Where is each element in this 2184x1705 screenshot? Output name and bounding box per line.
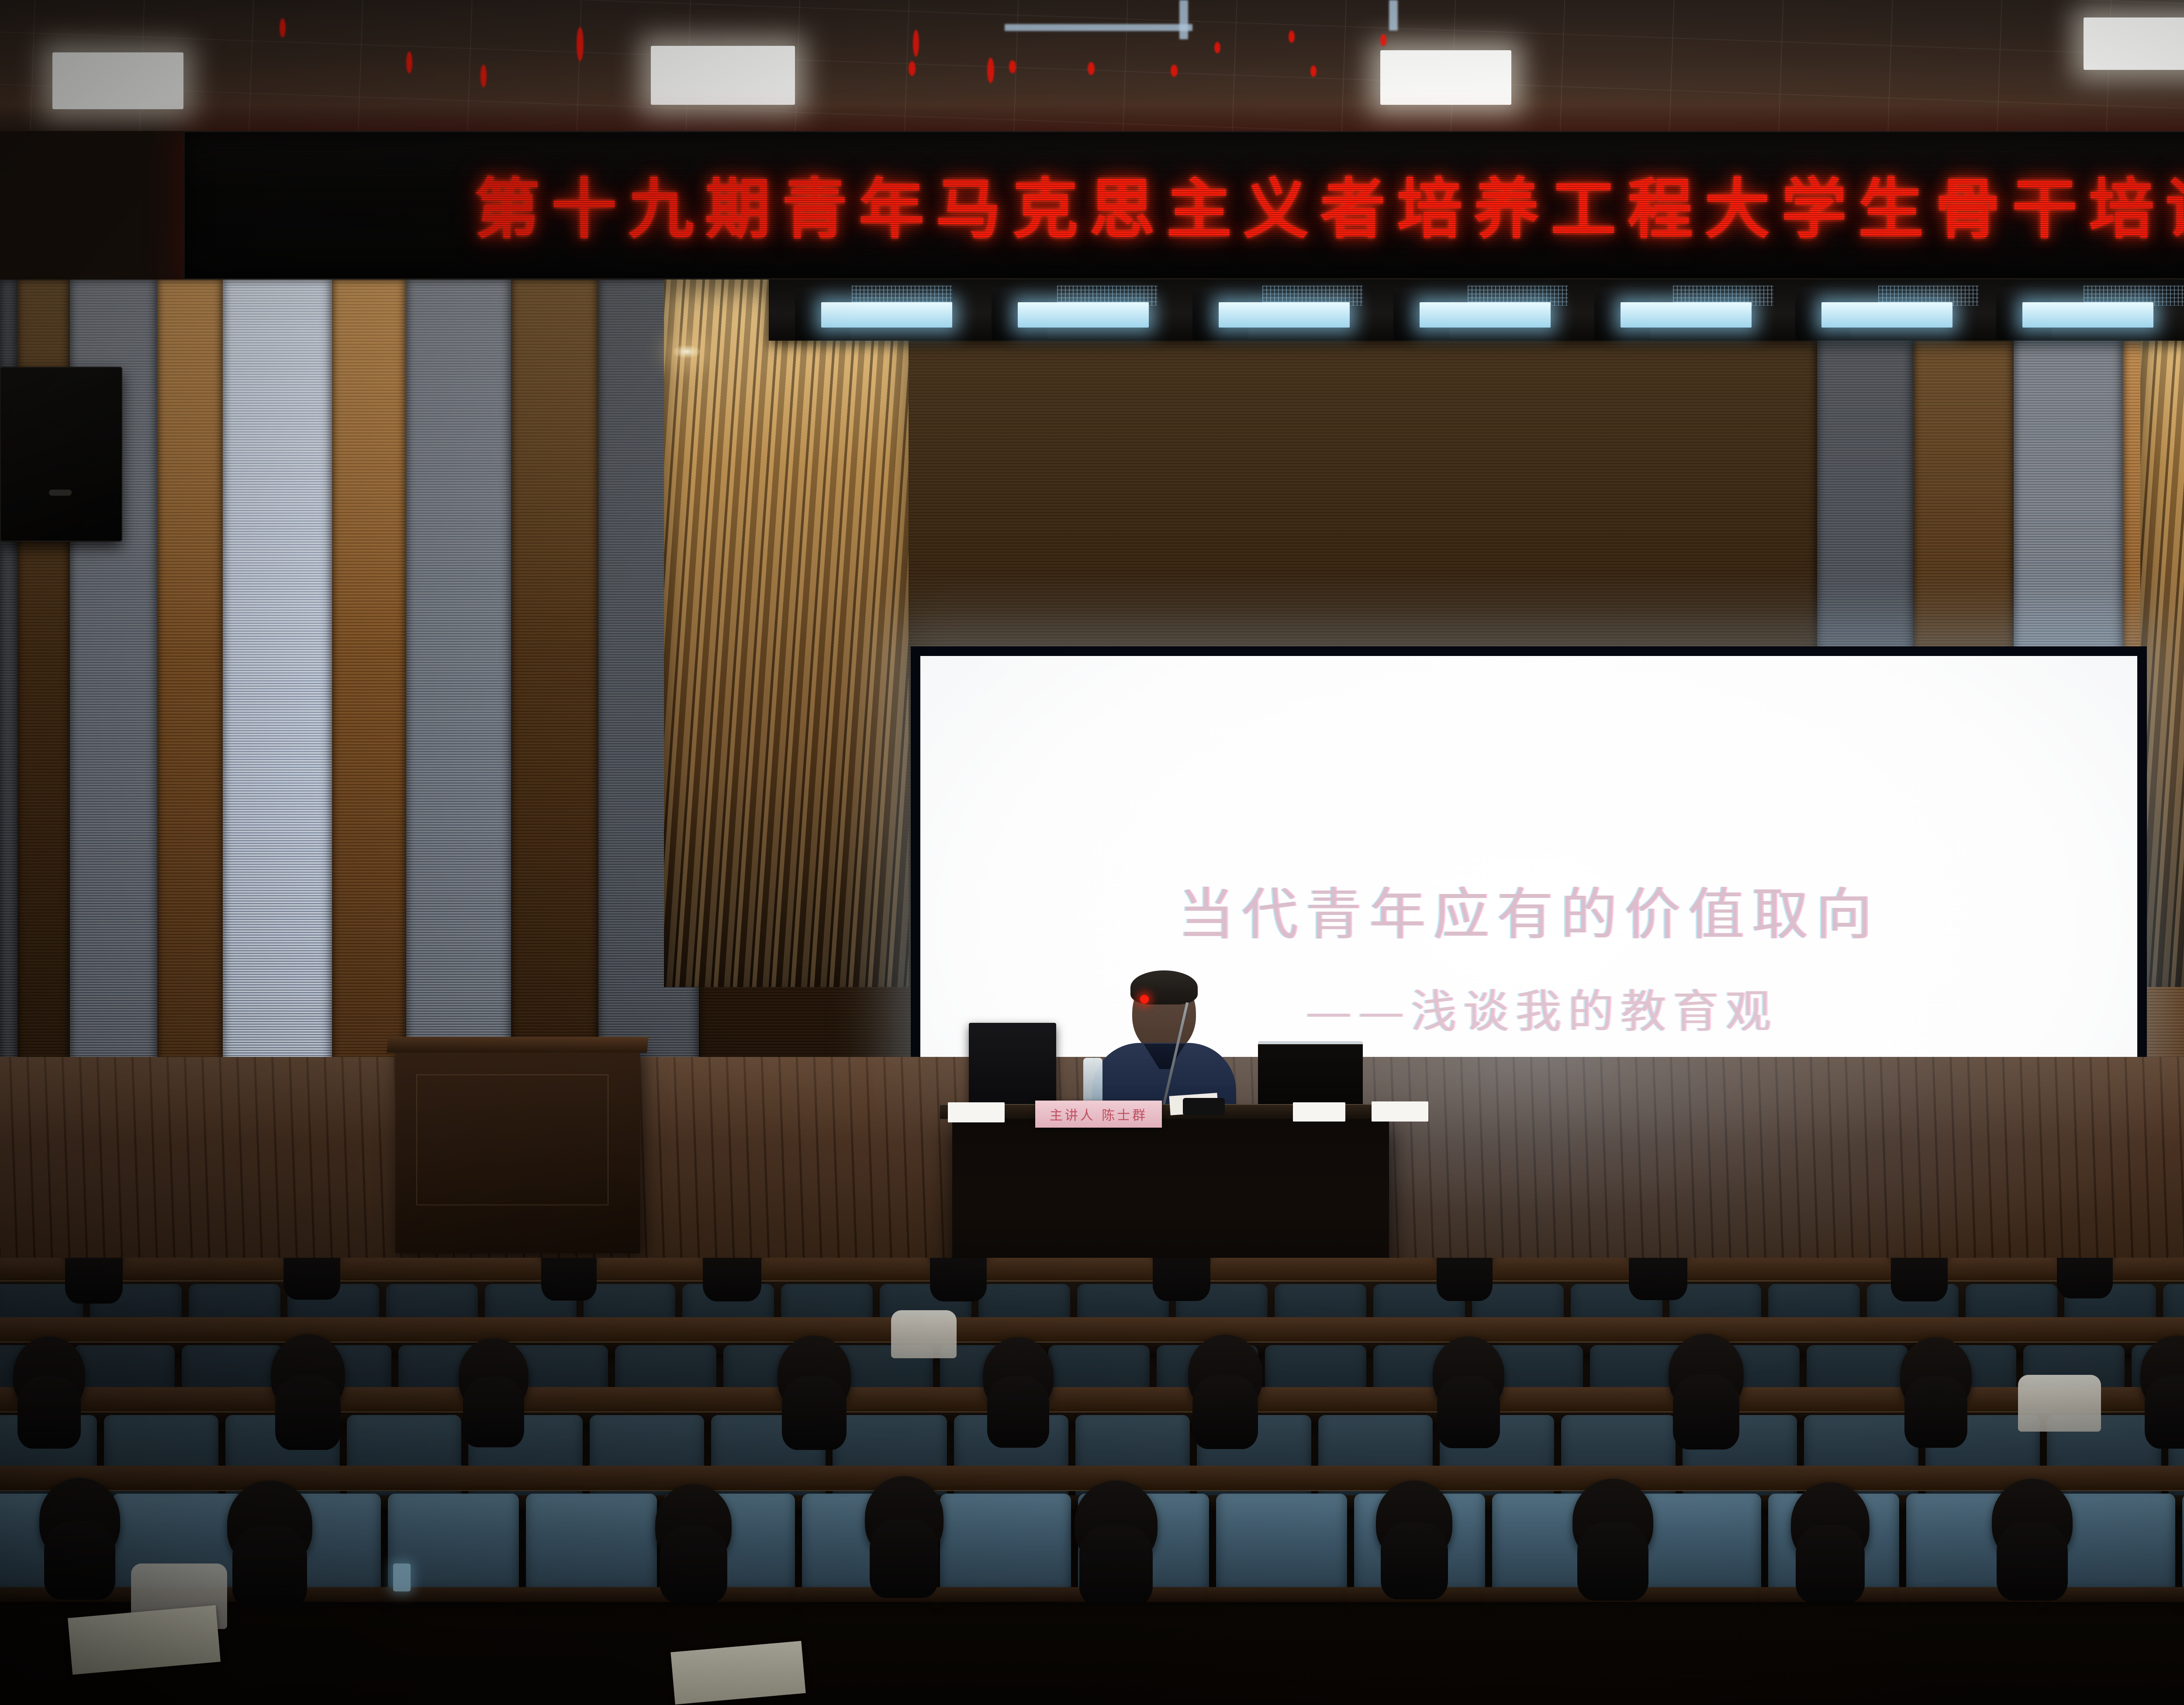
audience-head-far xyxy=(2053,1258,2117,1267)
speaker-logo-icon xyxy=(49,490,72,496)
ceiling-red-reflection xyxy=(1009,60,1016,73)
truss-strip-light xyxy=(1821,302,1952,328)
phone-screen-glow xyxy=(393,1563,411,1591)
led-banner: 第十九期青年马克思主义者培养工程大学生骨干培训班专题报告 xyxy=(183,131,2184,280)
audience-head-mid xyxy=(1900,1337,1972,1412)
ceiling-blue-reflection xyxy=(1389,0,1398,31)
slide-title: 当代青年应有的价值取向 xyxy=(1178,869,1880,950)
ceiling-red-reflection xyxy=(480,65,487,87)
podium-top xyxy=(387,1037,649,1053)
podium-front-panel xyxy=(416,1074,608,1205)
ceiling-red-reflection xyxy=(913,30,919,57)
ceiling-red-reflection xyxy=(1289,31,1295,43)
truss-strip-light xyxy=(1219,302,1350,328)
truss-strip-light xyxy=(2022,302,2153,328)
audience-head-mid xyxy=(271,1334,345,1413)
ceiling-downlight xyxy=(673,345,701,358)
audience-head-far xyxy=(926,1258,991,1269)
table-card-left xyxy=(948,1102,1005,1122)
wall-speaker xyxy=(0,367,122,542)
ceiling-blue-reflection xyxy=(1179,0,1188,39)
row-ledge xyxy=(0,1466,2184,1491)
audience-head-mid xyxy=(778,1336,851,1413)
audience-head-far xyxy=(537,1258,601,1269)
seat xyxy=(526,1494,657,1598)
ceiling-red-reflection xyxy=(909,61,916,76)
audience-head-near xyxy=(865,1476,943,1559)
audience-head-near xyxy=(227,1481,312,1568)
audience-head-far xyxy=(1887,1258,1952,1269)
ceiling-light-panel xyxy=(52,52,183,109)
audience-seating xyxy=(0,1258,2184,1705)
seat xyxy=(940,1494,1071,1598)
table-card-right xyxy=(1372,1101,1428,1122)
notebook xyxy=(670,1641,805,1705)
ceiling-light-panel xyxy=(651,46,795,105)
truss-strip-light xyxy=(1621,302,1752,328)
ceiling-red-reflection xyxy=(280,18,286,38)
notebook xyxy=(68,1605,221,1674)
audience-head-far xyxy=(1433,1258,1496,1269)
ceiling-red-reflection xyxy=(577,27,584,61)
ceiling-red-reflection xyxy=(1088,62,1095,75)
name-placard-text: 主讲人 陈士群 xyxy=(1050,1104,1148,1124)
ceiling-red-reflection xyxy=(1214,42,1220,53)
audience-head-far xyxy=(61,1258,127,1271)
audience-head-near xyxy=(1791,1482,1870,1564)
audience-head-near xyxy=(1992,1479,2073,1562)
name-placard: 主讲人 陈士群 xyxy=(1035,1101,1162,1128)
ceiling-red-reflection xyxy=(1310,66,1317,77)
seat xyxy=(104,1415,218,1507)
ceiling-blue-reflection xyxy=(1005,24,1192,31)
audience-head-mid xyxy=(13,1336,85,1413)
ceiling-red-reflection xyxy=(987,58,994,83)
stage-curtain xyxy=(664,280,909,987)
microphone-led-icon xyxy=(1140,995,1149,1004)
truss-strip-light xyxy=(1018,302,1149,328)
audience-head-mid xyxy=(983,1337,1054,1412)
audience-head-mid xyxy=(1433,1336,1504,1412)
truss-strip-light xyxy=(821,302,952,328)
auditorium-lecture-photo: 第十九期青年马克思主义者培养工程大学生骨干培训班专题报告 当代青年应有的价值取向… xyxy=(0,0,2184,1705)
truss-strip-light xyxy=(1420,302,1551,328)
row-ledge xyxy=(0,1317,2184,1343)
ceiling-red-reflection xyxy=(406,52,412,73)
ceiling-red-reflection xyxy=(1171,65,1178,77)
audience-light-shirt xyxy=(891,1310,957,1358)
seat xyxy=(1216,1494,1347,1598)
stage-curtain xyxy=(2140,280,2184,987)
audience-head-far xyxy=(280,1258,344,1267)
audience-head-far xyxy=(1625,1258,1691,1267)
audience-head-near xyxy=(1075,1481,1158,1566)
table-object-dark xyxy=(1183,1098,1225,1115)
stage-podium xyxy=(395,1044,640,1253)
ceiling-light-panel xyxy=(1380,50,1511,105)
audience-head-mid xyxy=(1188,1335,1262,1412)
audience-head-mid xyxy=(459,1338,529,1412)
audience-head-near xyxy=(1572,1479,1653,1562)
ceiling-red-reflection xyxy=(1380,34,1386,46)
audience-head-far xyxy=(1149,1258,1214,1268)
ceiling-light-panel xyxy=(2084,17,2184,70)
laptop xyxy=(969,1023,1056,1110)
audience-head-mid xyxy=(1669,1334,1744,1412)
audience-head-near xyxy=(39,1478,120,1561)
audience-head-near xyxy=(655,1484,732,1565)
audience-head-near xyxy=(1376,1481,1452,1561)
ceiling xyxy=(0,0,2184,131)
seat xyxy=(347,1415,461,1507)
table-card-mid xyxy=(1293,1102,1345,1122)
audience-head-far xyxy=(699,1258,765,1268)
led-banner-text: 第十九期青年马克思主义者培养工程大学生骨干培训班专题报告 xyxy=(474,156,2184,251)
audience-light-shirt xyxy=(2018,1375,2101,1432)
seat xyxy=(2182,1494,2184,1598)
proscenium-soffit xyxy=(769,280,2184,341)
slide-subtitle: ——浅谈我的教育观 xyxy=(1306,974,1778,1040)
